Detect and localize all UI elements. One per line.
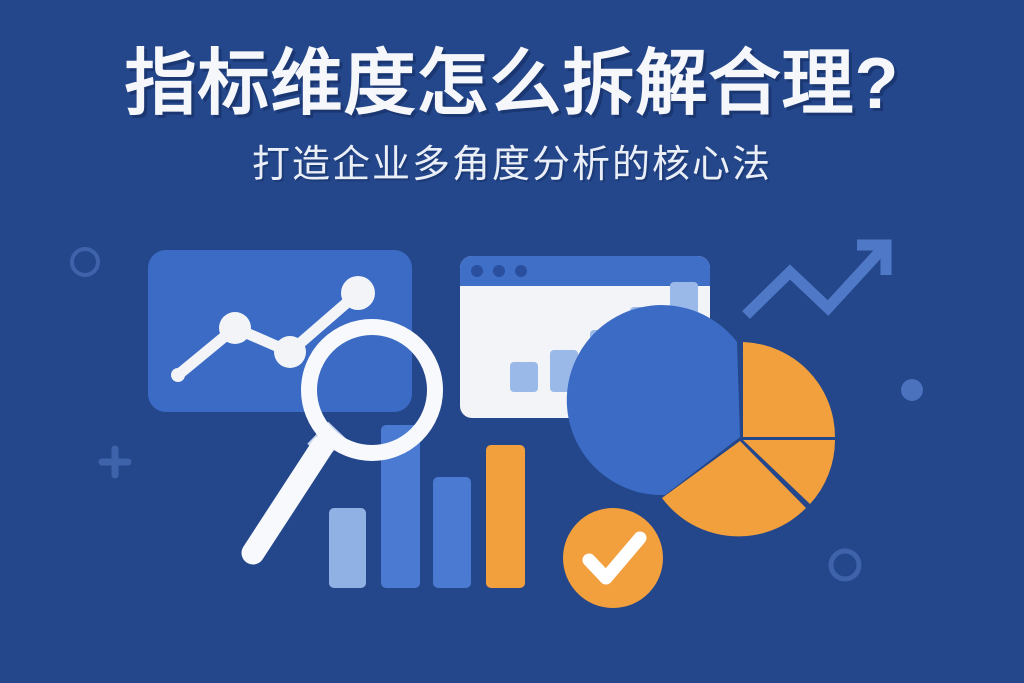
page-title: 指标维度怎么拆解合理?: [0, 48, 1024, 120]
title-block: 指标维度怎么拆解合理? 打造企业多角度分析的核心法: [0, 48, 1024, 184]
browser-window-dots: [471, 265, 527, 277]
upward-trend-arrow-icon: [746, 245, 886, 315]
decor-dot-right-icon: [901, 379, 923, 401]
pie-slice-a: [743, 342, 835, 437]
poster-canvas: 指标维度怎么拆解合理? 打造企业多角度分析的核心法: [0, 0, 1024, 683]
decor-plus-left-icon: [102, 449, 128, 475]
foreground-bar: [433, 477, 471, 588]
browser-dot-3-icon: [515, 265, 527, 277]
check-circle-badge: [563, 508, 663, 608]
magnifier-handle: [253, 447, 322, 553]
browser-dot-2-icon: [493, 265, 505, 277]
foreground-bar: [329, 508, 366, 588]
foreground-bar: [486, 445, 525, 588]
check-badge-circle: [563, 508, 663, 608]
browser-dot-1-icon: [471, 265, 483, 277]
page-subtitle: 打造企业多角度分析的核心法: [0, 120, 1024, 184]
decor-ring-top-left-icon: [72, 249, 98, 275]
decor-ring-bottom-right-icon: [831, 551, 859, 579]
browser-bar: [510, 362, 538, 392]
pie-chart: [567, 305, 835, 536]
